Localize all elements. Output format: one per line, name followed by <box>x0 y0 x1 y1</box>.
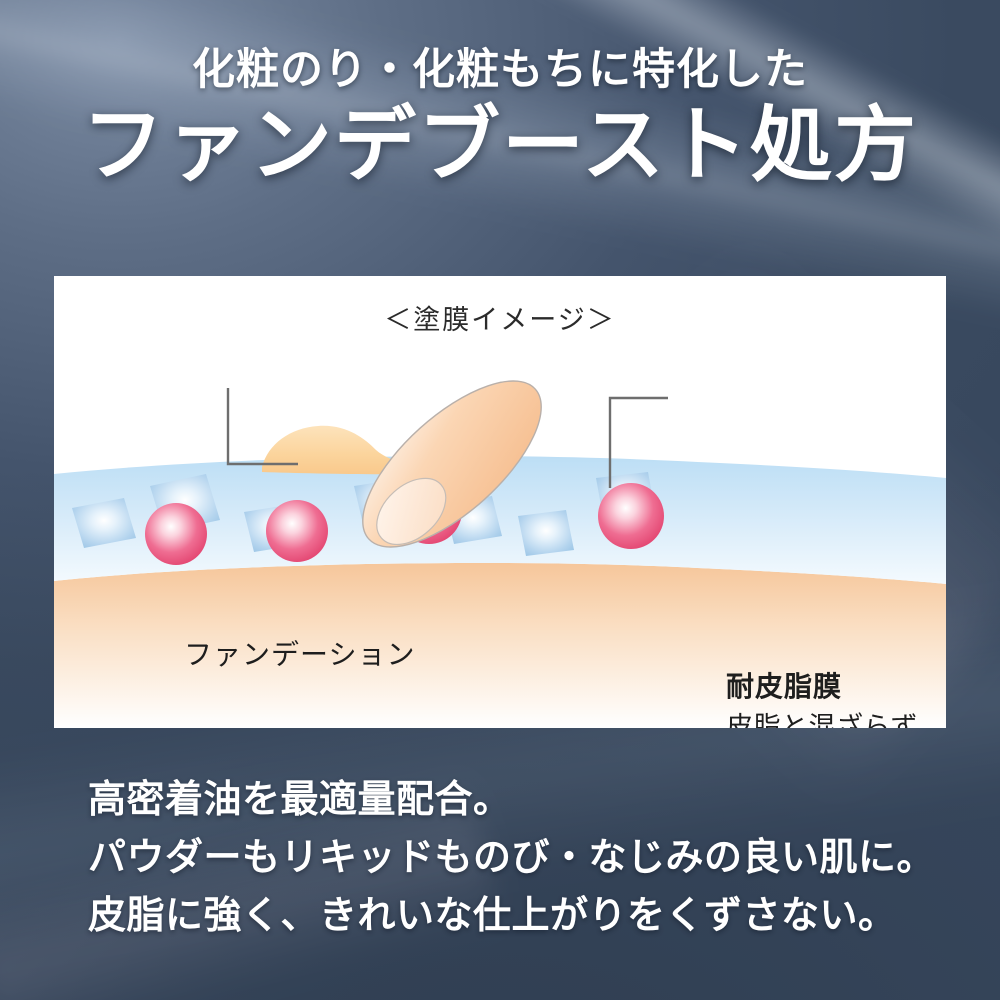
headline-block: 化粧のり・化粧もちに特化した ファンデブースト処方 <box>0 46 1000 195</box>
bottom-copy-line-1: 高密着油を最適量配合。 <box>88 772 935 830</box>
oil-particle <box>145 503 207 565</box>
diagram-card: ＜塗膜イメージ＞ <box>54 276 946 728</box>
bottom-copy-line-3: 皮脂に強く、きれいな仕上がりをくずさない。 <box>88 888 935 946</box>
poster-root: 化粧のり・化粧もちに特化した ファンデブースト処方 ＜塗膜イメージ＞ <box>0 0 1000 1000</box>
headline-line-2: ファンデブースト処方 <box>0 98 1000 195</box>
oil-particle <box>266 500 328 562</box>
oil-particle <box>598 483 664 549</box>
label-film-title: 耐皮脂膜 <box>726 665 842 705</box>
bottom-copy-line-2: パウダーもリキッドものび・なじみの良い肌に。 <box>88 830 935 888</box>
powder-particle <box>518 510 574 556</box>
label-film-desc-1: 皮脂と混ざらず、 <box>726 705 944 728</box>
label-foundation: ファンデーション <box>184 633 415 673</box>
bottom-copy-block: 高密着油を最適量配合。 パウダーもリキッドものび・なじみの良い肌に。 皮脂に強く… <box>88 772 935 945</box>
headline-line-1: 化粧のり・化粧もちに特化した <box>0 46 1000 94</box>
